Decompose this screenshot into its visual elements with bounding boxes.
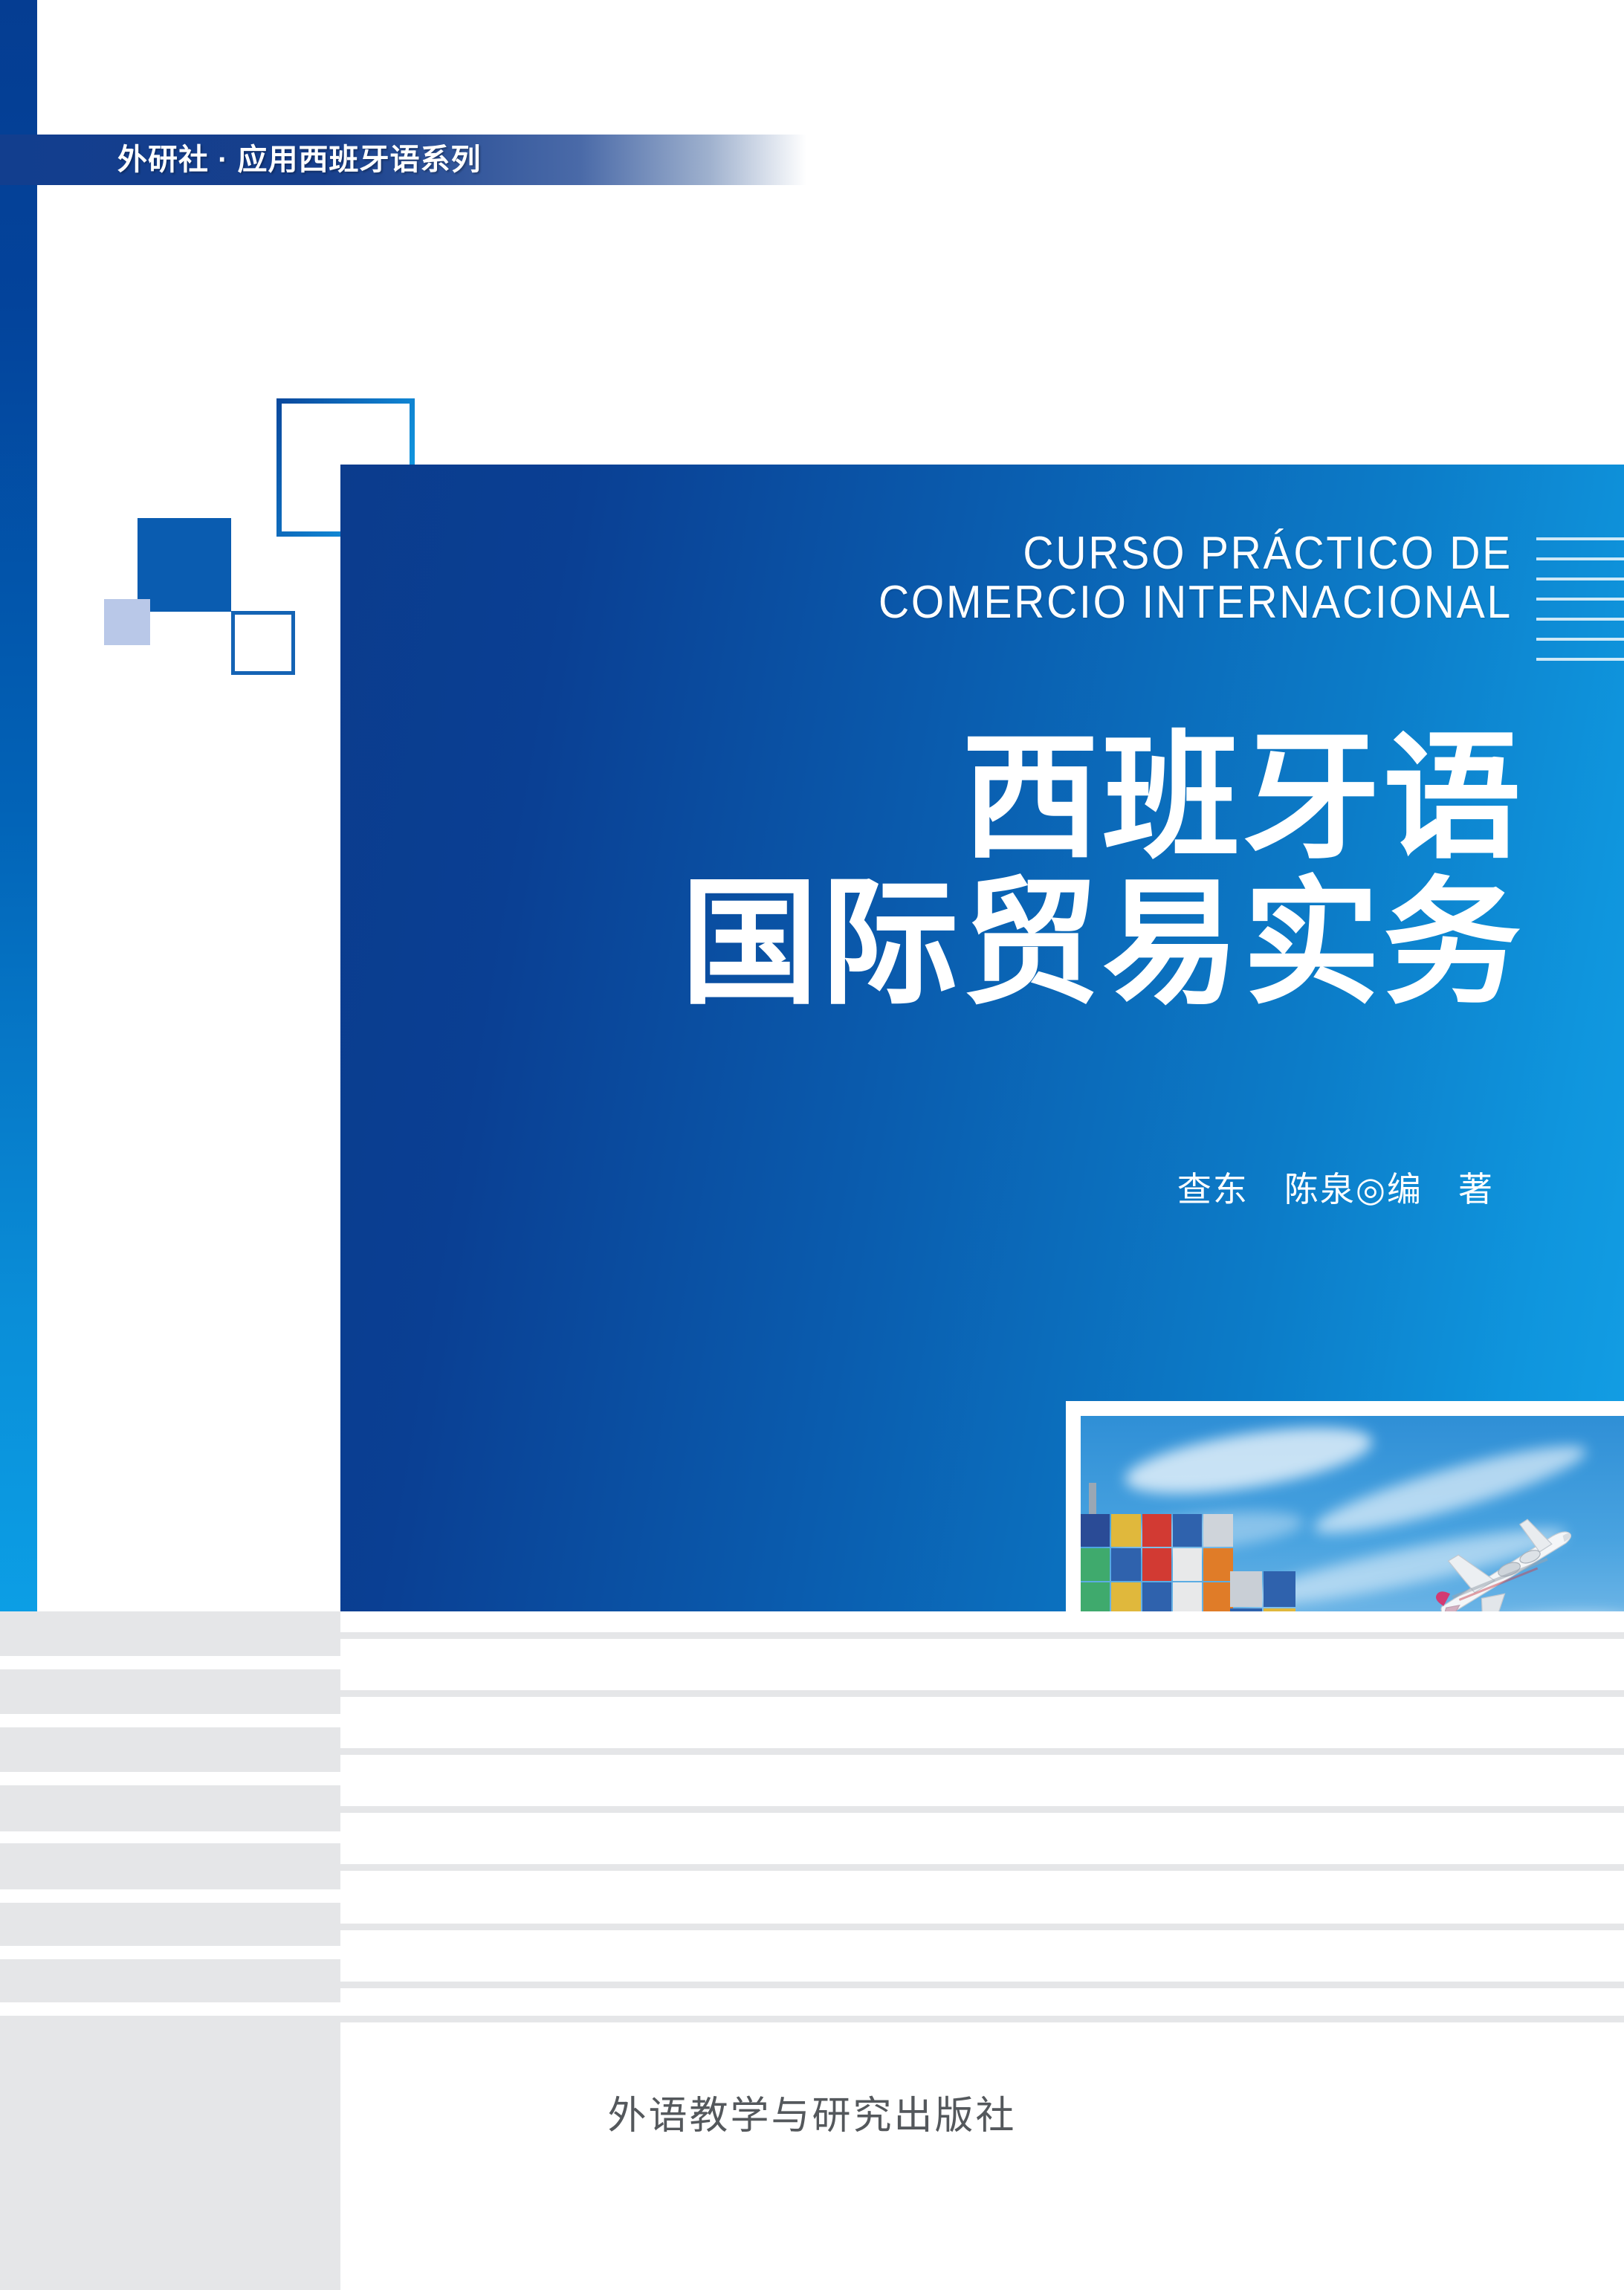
chinese-title: 西班牙语 国际贸易实务 — [446, 725, 1524, 1016]
decorative-rule — [1536, 638, 1624, 641]
stripe-line-right — [340, 1632, 1624, 1639]
spine-strip — [0, 0, 37, 1683]
stripe-band-left — [0, 1785, 340, 1831]
chinese-title-line-2: 国际贸易实务 — [446, 870, 1524, 1016]
spanish-title: CURSO PRÁCTICO DE COMERCIO INTERNACIONAL — [504, 529, 1513, 627]
stripe-line-right — [340, 1864, 1624, 1871]
cloud-shape — [1122, 1416, 1376, 1507]
bottom-stripe-region — [0, 1611, 1624, 2290]
spanish-title-line-1: CURSO PRÁCTICO DE — [504, 529, 1513, 578]
stripe-band-left — [0, 1727, 340, 1772]
spanish-title-line-2: COMERCIO INTERNACIONAL — [504, 578, 1513, 627]
stripe-band-left — [0, 2016, 340, 2290]
decorative-rule-stack — [1536, 537, 1624, 661]
decorative-rule — [1536, 618, 1624, 621]
stripe-band-left — [0, 1669, 340, 1714]
series-banner-label: 外研社 · 应用西班牙语系列 — [117, 141, 482, 178]
stripe-band-left — [0, 1843, 340, 1889]
stripe-line-right — [340, 1806, 1624, 1813]
decorative-rule — [1536, 557, 1624, 560]
decorative-outline-square-small — [231, 611, 295, 675]
decorative-lavender-square — [104, 599, 150, 645]
stripe-band-left — [0, 1611, 340, 1656]
stripe-band-left — [0, 1959, 340, 2002]
book-cover: 外研社 · 应用西班牙语系列 CURSO PRÁCTICO DE COMERCI… — [0, 0, 1624, 2290]
stripe-line-right — [340, 2016, 1624, 2022]
decorative-rule — [1536, 578, 1624, 580]
decorative-rule — [1536, 598, 1624, 601]
decorative-rule — [1536, 537, 1624, 540]
stripe-line-right — [340, 1690, 1624, 1697]
stripe-line-right — [340, 1924, 1624, 1930]
author-byline: 查东 陈泉◎编 著 — [743, 1168, 1524, 1210]
decorative-rule — [1536, 658, 1624, 661]
decorative-filled-square — [138, 518, 231, 612]
stripe-band-left — [0, 1903, 340, 1946]
chinese-title-line-1: 西班牙语 — [446, 725, 1524, 870]
publisher-name: 外语教学与研究出版社 — [0, 2093, 1624, 2139]
stripe-line-right — [340, 1748, 1624, 1755]
stripe-line-right — [340, 1982, 1624, 1988]
